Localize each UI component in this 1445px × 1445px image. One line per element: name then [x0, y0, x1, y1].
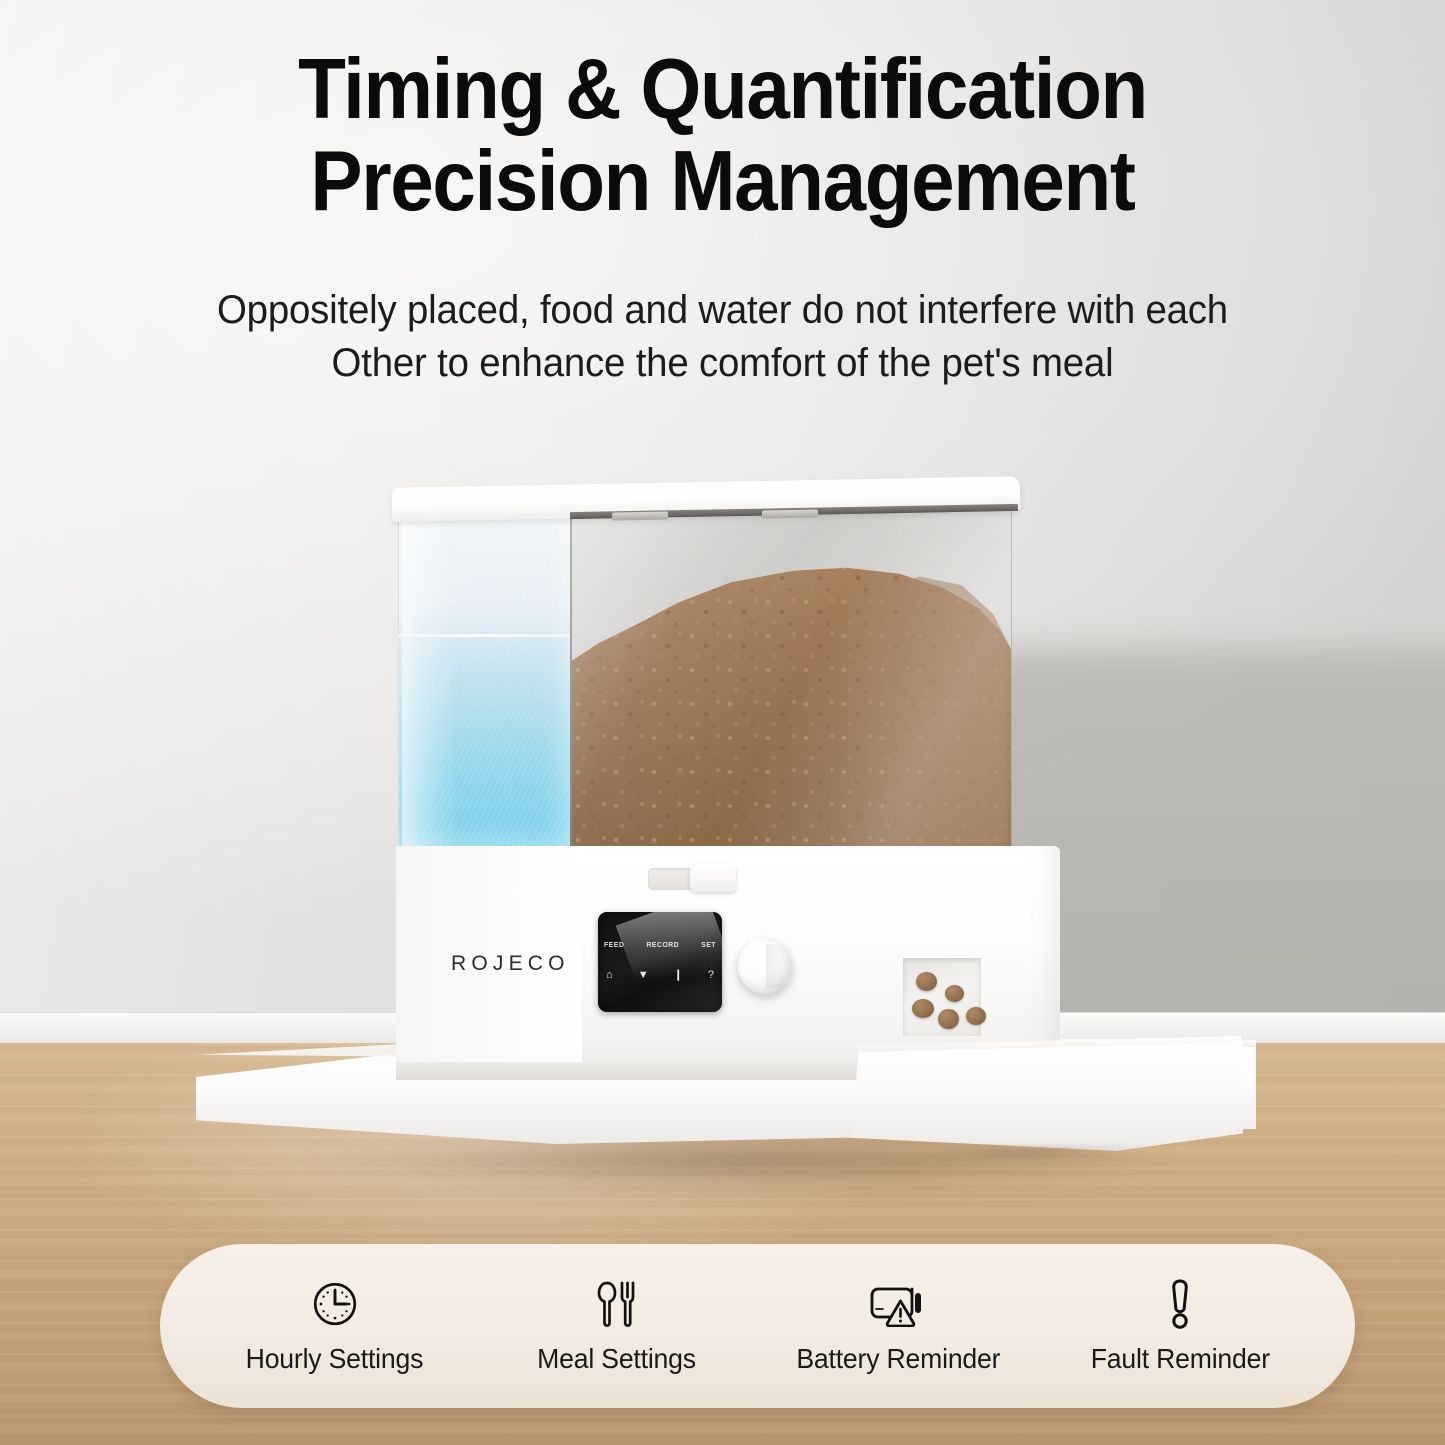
- product-floor-shadow: [150, 1120, 1330, 1200]
- clock-icon: [310, 1278, 360, 1330]
- title-line-1: Timing & Quantification: [58, 44, 1387, 136]
- subtitle-line-2: Other to enhance the comfort of the pet'…: [29, 337, 1416, 390]
- feature-highlights-card: Hourly Settings Meal Settings: [160, 1244, 1355, 1408]
- feature-label: Hourly Settings: [246, 1343, 424, 1375]
- subtitle-line-1: Oppositely placed, food and water do not…: [29, 284, 1416, 337]
- feature-label: Meal Settings: [537, 1343, 696, 1375]
- feature-label: Battery Reminder: [796, 1343, 1000, 1375]
- feature-item-meal-settings: Meal Settings: [476, 1278, 758, 1375]
- cutlery-icon: [593, 1278, 641, 1330]
- exclamation-icon: [1166, 1278, 1194, 1330]
- product-marketing-poster: Timing & Quantification Precision Manage…: [0, 0, 1445, 1445]
- feature-item-fault-reminder: Fault Reminder: [1039, 1278, 1321, 1375]
- baseboard: [0, 1012, 1445, 1047]
- feature-item-battery-reminder: Battery Reminder: [758, 1278, 1040, 1375]
- feature-label: Fault Reminder: [1091, 1343, 1270, 1375]
- battery-warning-icon: [868, 1278, 928, 1330]
- title-line-2: Precision Management: [58, 136, 1387, 228]
- product-wall-shadow: [878, 648, 1445, 1048]
- subtitle-block: Oppositely placed, food and water do not…: [29, 284, 1416, 390]
- headline-block: Timing & Quantification Precision Manage…: [0, 44, 1445, 228]
- feature-item-hourly-settings: Hourly Settings: [194, 1278, 476, 1375]
